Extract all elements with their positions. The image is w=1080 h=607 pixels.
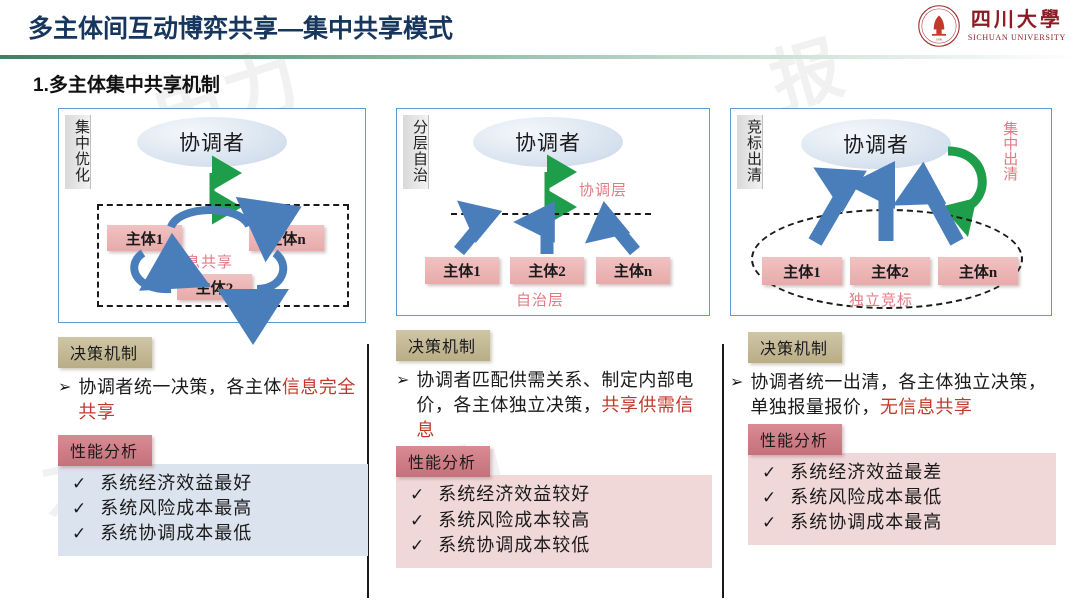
entity-node: 主体2 [850,257,930,285]
entity-node: 主体2 [510,257,584,284]
coordinator-node: 协调者 [473,117,623,167]
information-sharing-label: 信息共享 [169,251,233,272]
performance-list: ✓ 系统经济效益最差 ✓ 系统风险成本最低 ✓ 系统协调成本最高 [748,453,1056,545]
performance-tab: 性能分析 [58,435,152,466]
diagram-panel-hierarchical: 分层自治 协调者 协调层 [396,108,710,316]
section-heading: 1.多主体集中共享机制 [33,70,220,97]
performance-list: ✓ 系统经济效益最好 ✓ 系统风险成本最高 ✓ 系统协调成本最低 [58,464,368,556]
bullet-marker-icon: ➢ [58,375,71,398]
seal-icon: 1896 [917,4,961,48]
column-divider-2 [722,344,724,598]
check-icon: ✓ [72,473,86,495]
logo-name-cn: 四川大學 [971,10,1063,30]
performance-tab: 性能分析 [748,424,842,455]
list-item: ✓ 系统经济效益最好 [62,471,364,496]
diagram-panel-centralized: 集中优化 协调者 主体1 主体n 主体2 信息共享 [58,108,366,323]
autonomy-layer-label: 自治层 [516,289,564,310]
entity-node: 主体1 [425,257,499,284]
check-icon: ✓ [410,510,424,532]
diagram-panel-bidding: 竞标出清 协调者 集中出清 [730,108,1052,316]
check-icon: ✓ [762,512,776,534]
entity-node: 主体n [596,257,670,284]
performance-item-text: 系统风险成本最高 [100,497,252,520]
check-icon: ✓ [762,487,776,509]
logo-name-en: SICHUAN UNIVERSITY [968,34,1066,42]
entity-node: 主体2 [177,274,252,300]
decision-mechanism-text: 协调者匹配供需关系、制定内部电价，各主体独立决策，共享供需信息 [416,368,712,442]
list-item: ✓ 系统风险成本最高 [62,496,364,521]
header-divider-rule [0,55,1080,59]
independent-bidding-label: 独立竞标 [849,289,913,310]
coordinator-node: 协调者 [137,117,287,167]
decision-mechanism-tab: 决策机制 [396,330,490,361]
panel-side-label: 分层自治 [403,115,429,189]
performance-item-text: 系统经济效益较好 [438,483,590,506]
list-item: ✓ 系统经济效益较好 [400,482,708,507]
list-item: ✓ 系统协调成本较低 [400,533,708,558]
performance-item-text: 系统协调成本较低 [438,534,590,557]
list-item: ✓ 系统经济效益最差 [752,460,1052,485]
check-icon: ✓ [410,484,424,506]
decision-mechanism-block-1: 决策机制 ➢ 协调者统一决策，各主体信息完全共享 [58,337,368,425]
column-hierarchical-autonomy: 分层自治 协调者 协调层 [396,108,712,568]
coordination-layer-label: 协调层 [579,179,627,200]
performance-item-text: 系统风险成本较高 [438,509,590,532]
entity-node: 主体n [938,257,1018,285]
list-item: ✓ 系统风险成本最低 [752,485,1052,510]
decision-mechanism-block-2: 决策机制 ➢ 协调者匹配供需关系、制定内部电价，各主体独立决策，共享供需信息 [396,330,712,442]
check-icon: ✓ [762,462,776,484]
performance-list: ✓ 系统经济效益较好 ✓ 系统风险成本较高 ✓ 系统协调成本较低 [396,475,712,567]
page-title: 多主体间互动博弈共享—集中共享模式 [28,9,453,45]
performance-item-text: 系统协调成本最低 [100,522,252,545]
performance-block-3: 性能分析 ✓ 系统经济效益最差 ✓ 系统风险成本最低 ✓ 系统协调成本最高 [730,424,1056,545]
entity-node: 主体n [249,225,324,251]
bullet-marker-icon: ➢ [396,368,409,391]
performance-item-text: 系统经济效益最差 [790,461,942,484]
decision-mechanism-tab: 决策机制 [748,332,842,363]
list-item: ✓ 系统协调成本最低 [62,521,364,546]
column-bidding-clearing: 竞标出清 协调者 集中出清 [730,108,1056,545]
svg-text:1896: 1896 [936,38,943,42]
central-clearing-label: 集中出清 [1001,121,1016,181]
decision-mechanism-text: 协调者统一决策，各主体信息完全共享 [78,375,368,425]
coordinator-node: 协调者 [801,119,951,169]
check-icon: ✓ [72,498,86,520]
list-item: ✓ 系统协调成本最高 [752,510,1052,535]
university-logo: 1896 四川大學 SICHUAN UNIVERSITY [917,4,1066,48]
panel-side-label: 集中优化 [65,115,91,189]
performance-block-1: 性能分析 ✓ 系统经济效益最好 ✓ 系统风险成本最高 ✓ 系统协调成本最低 [58,435,368,556]
decision-mechanism-block-3: 决策机制 ➢ 协调者统一出清，各主体独立决策，单独报量报价，无信息共享 [730,332,1056,420]
check-icon: ✓ [410,535,424,557]
entity-node: 主体1 [762,257,842,285]
check-icon: ✓ [72,523,86,545]
performance-item-text: 系统协调成本最高 [790,511,942,534]
decision-mechanism-tab: 决策机制 [58,337,152,368]
column-centralized-optimization: 集中优化 协调者 主体1 主体n 主体2 信息共享 [58,108,368,556]
entity-node: 主体1 [107,225,182,251]
performance-item-text: 系统风险成本最低 [790,486,942,509]
performance-item-text: 系统经济效益最好 [100,472,252,495]
panel-side-label: 竞标出清 [737,115,763,189]
performance-block-2: 性能分析 ✓ 系统经济效益较好 ✓ 系统风险成本较高 ✓ 系统协调成本较低 [396,446,712,567]
slide-canvas: 电力 报 电 报 力 多主体间互动博弈共享—集中共享模式 1896 四川大學 S… [0,0,1080,607]
performance-tab: 性能分析 [396,446,490,477]
layer-separator-line [451,213,651,215]
bullet-marker-icon: ➢ [730,370,743,393]
list-item: ✓ 系统风险成本较高 [400,508,708,533]
decision-mechanism-text: 协调者统一出清，各主体独立决策，单独报量报价，无信息共享 [750,370,1056,420]
